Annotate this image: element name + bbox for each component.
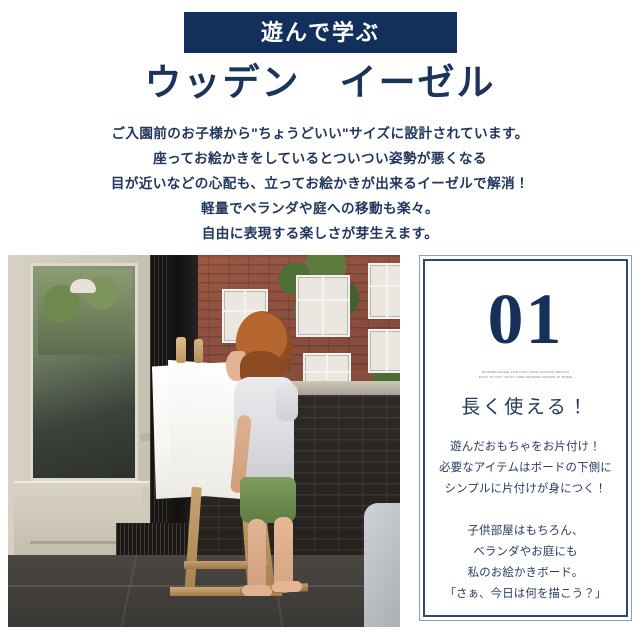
hero-section: 遊んで学ぶ ウッデン イーゼル ご入園前のお子様から"ちょうどいい"サイズに設計…: [0, 0, 640, 252]
feature-body-line: 「さぁ、今日は何を描こう？」: [425, 584, 626, 605]
feature-body: 遊んだおもちゃをお片付け！ 必要なアイテムはボードの下側に シンプルに片付けが身…: [425, 437, 626, 605]
product-promo-page: 遊んで学ぶ ウッデン イーゼル ご入園前のお子様から"ちょうどいい"サイズに設計…: [0, 0, 640, 640]
photo-child-foot: [242, 585, 272, 596]
feature-panel-01: 01 WOODEN EASEL FOR KIDS LONG LASTING DE…: [419, 255, 632, 621]
feature-microtext-line: EASY TO TIDY UP MY OWN DRAWING BOARD AT …: [425, 375, 626, 380]
photo-child-leg: [248, 519, 266, 591]
photo-paper-clip: [194, 339, 203, 363]
photo-foreground-object: [364, 503, 400, 627]
feature-body-line: 遊んだおもちゃをお片付け！: [425, 437, 626, 458]
feature-number: 01: [425, 283, 626, 355]
lede-line: ご入園前のお子様から"ちょうどいい"サイズに設計されています。: [0, 121, 640, 146]
photo-lamp: [70, 279, 96, 293]
photo-child-shorts: [240, 477, 296, 523]
lede-paragraph: ご入園前のお子様から"ちょうどいい"サイズに設計されています。 座ってお絵かきを…: [0, 121, 640, 246]
photo-child-foot: [272, 581, 302, 592]
feature-microtext: WOODEN EASEL FOR KIDS LONG LASTING DESIG…: [425, 370, 626, 380]
feature-body-line: 必要なアイテムはボードの下側に: [425, 458, 626, 479]
lede-line: 自由に表現する楽しさが芽生えます。: [0, 221, 640, 246]
eyebrow-label: 遊んで学ぶ: [261, 22, 380, 44]
product-lifestyle-photo: [8, 255, 400, 627]
feature-body-line: 子供部屋はもちろん、: [425, 521, 626, 542]
feature-body-line: 私のお絵かきボード。: [425, 563, 626, 584]
photo-paper-clip: [176, 337, 186, 363]
page-title: ウッデン イーゼル: [0, 60, 640, 106]
content-row: 01 WOODEN EASEL FOR KIDS LONG LASTING DE…: [0, 252, 640, 640]
photo-window: [368, 329, 400, 373]
photo-window: [296, 275, 350, 337]
feature-body-line: ベランダやお庭にも: [425, 542, 626, 563]
photo-child-sleeve: [276, 383, 298, 421]
feature-heading: 長く使える！: [425, 398, 626, 417]
eyebrow-banner: 遊んで学ぶ: [184, 12, 457, 53]
feature-panel-inner-border: 01 WOODEN EASEL FOR KIDS LONG LASTING DE…: [423, 259, 628, 617]
lede-line: 軽量でベランダや庭への移動も楽々。: [0, 196, 640, 221]
photo-window: [368, 263, 400, 319]
lede-line: 座ってお絵かきをしているとついつい姿勢が悪くなる: [0, 146, 640, 171]
feature-body-line: シンプルに片付けが身につく！: [425, 479, 626, 500]
feature-body-spacer: [425, 500, 626, 521]
lede-line: 目が近いなどの心配も、立ってお絵かきが出来るイーゼルで解消！: [0, 171, 640, 196]
